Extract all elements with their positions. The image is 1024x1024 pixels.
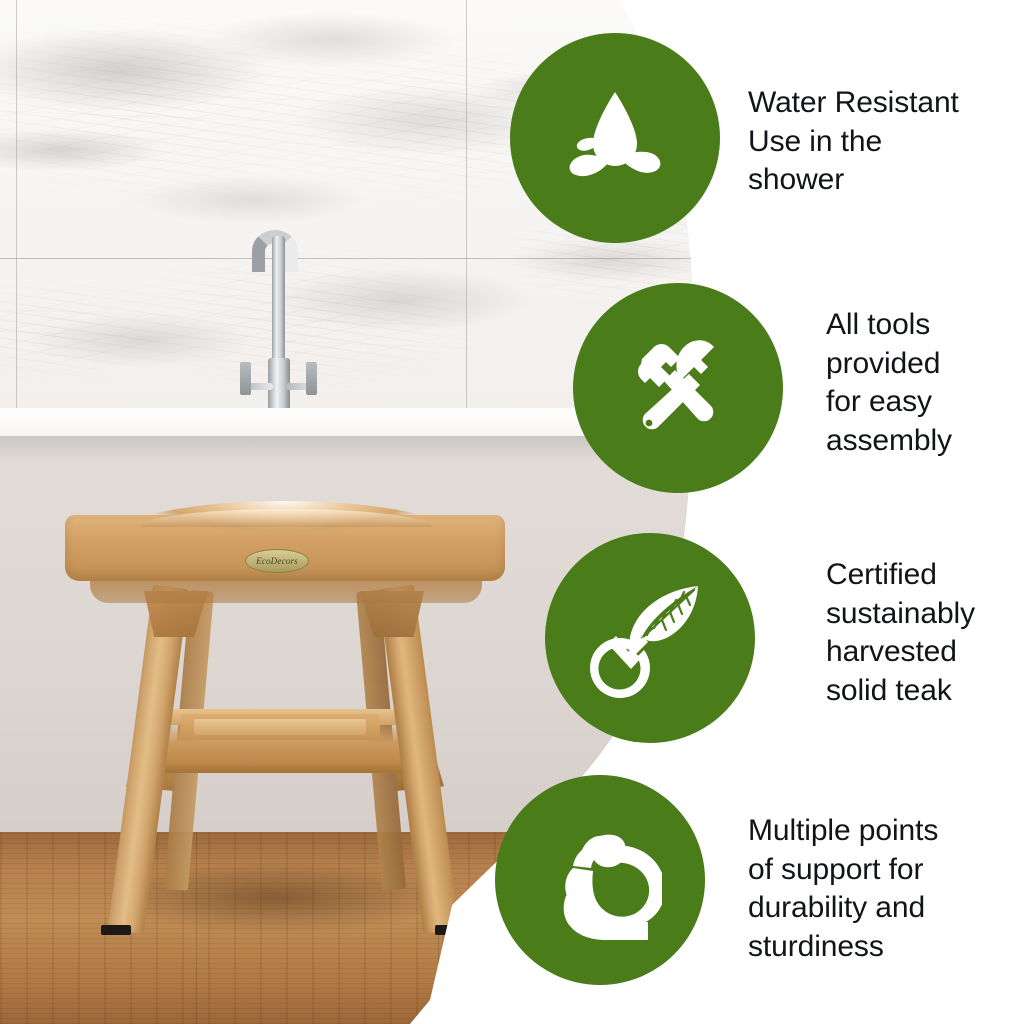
brand-plaque-label: EcoDecors — [256, 556, 298, 566]
feature-icon-badge-2 — [573, 283, 783, 493]
tile-grout-vertical-left — [16, 0, 17, 420]
tile-grout-horizontal — [0, 258, 730, 259]
faucet-lever-right — [306, 362, 317, 395]
feature-text-2: All tools provided for easy assembly — [826, 306, 1024, 461]
feature-text-1: Water Resistant Use in the shower — [748, 84, 1016, 200]
feature-icon-badge-1 — [510, 33, 720, 243]
feature-text-4: Multiple points of support for durabilit… — [748, 812, 1024, 967]
teak-stool: EcoDecors — [60, 495, 510, 935]
stool-foot-left — [101, 925, 131, 935]
flexed-bicep-icon — [538, 818, 662, 942]
stool-foot-right — [435, 925, 465, 935]
brand-plaque: EcoDecors — [245, 549, 309, 573]
leaf-checkmark-icon — [586, 574, 714, 702]
feature-icon-badge-4 — [495, 775, 705, 985]
tile-grout-vertical-right — [466, 0, 467, 420]
hammer-wrench-icon — [618, 328, 738, 448]
infographic-canvas: EcoDecors Water Resistant Use in the sho… — [0, 0, 1024, 1024]
faucet-spout — [272, 236, 285, 366]
feature-text-3: Certified sustainably harvested solid te… — [826, 556, 1024, 711]
faucet-lever-left — [240, 362, 251, 395]
feature-icon-badge-3 — [545, 533, 755, 743]
water-drop-splash-icon — [555, 78, 675, 198]
stool-shelf-inlay-center — [194, 719, 366, 735]
